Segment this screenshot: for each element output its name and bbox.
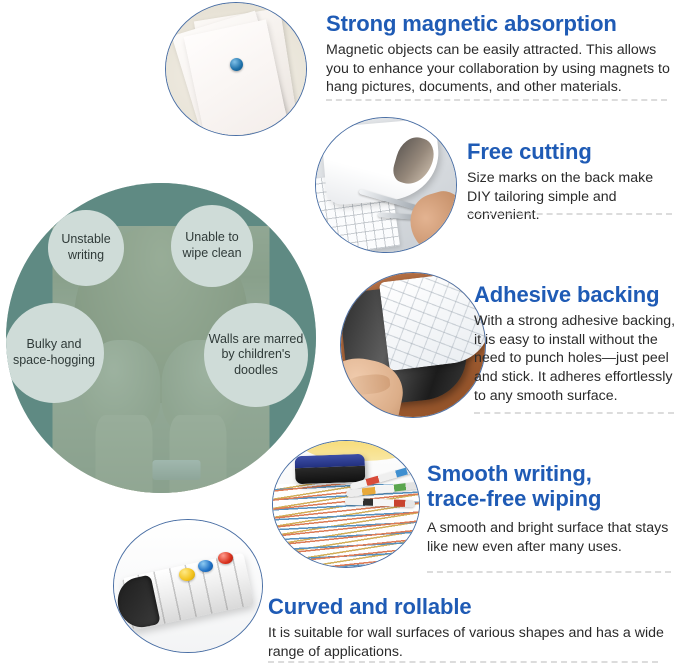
feature-body: Size marks on the back make DIY tailorin…	[467, 169, 675, 226]
feature-body: A smooth and bright surface that stays l…	[427, 519, 675, 557]
photo-free-cutting-image	[316, 118, 456, 252]
hand	[404, 187, 457, 253]
pain-bubble-unstable-writing: Unstable writing	[48, 210, 124, 286]
magnet-yellow	[179, 568, 195, 581]
white-grid-sheet	[379, 272, 486, 371]
pain-bubble-unable-to-wipe-clean: Unable to wipe clean	[171, 205, 253, 287]
pain-bubble-label: Walls are marred by children's doodles	[208, 332, 304, 379]
divider-4	[427, 571, 671, 573]
feature-heading-line1: Smooth writing,	[427, 461, 592, 486]
pain-bubble-label: Unable to wipe clean	[175, 230, 249, 261]
feature-curved-and-rollable: Curved and rollable It is suitable for w…	[268, 595, 668, 661]
feature-strong-magnetic-absorption: Strong magnetic absorption Magnetic obje…	[326, 12, 671, 97]
magnet-blue	[198, 560, 213, 572]
infographic-canvas: Strong magnetic absorption Magnetic obje…	[0, 0, 679, 669]
feature-body: It is suitable for wall surfaces of vari…	[268, 624, 668, 662]
divider-5	[268, 661, 658, 663]
feature-heading: Strong magnetic absorption	[326, 12, 671, 37]
feature-body: Magnetic objects can be easily attracted…	[326, 41, 671, 98]
feature-heading: Smooth writing, trace-free wiping	[427, 462, 675, 511]
feature-body: With a strong adhesive backing, it is ea…	[474, 312, 679, 406]
photo-strong-magnetic-absorption	[165, 2, 307, 136]
divider-2	[467, 213, 672, 215]
photo-magnetic-sheets-image	[166, 3, 306, 135]
marker-lines	[273, 484, 419, 567]
feature-heading-line2: trace-free wiping	[427, 486, 601, 511]
pain-bubble-walls-are-marred: Walls are marred by children's doodles	[204, 303, 308, 407]
magnet-red	[218, 552, 233, 564]
photo-free-cutting	[315, 117, 457, 253]
feature-smooth-writing: Smooth writing, trace-free wiping A smoo…	[427, 462, 675, 557]
feature-heading: Curved and rollable	[268, 595, 668, 620]
pain-bubble-label: Unstable writing	[52, 232, 120, 263]
photo-curved-rollable-image	[114, 520, 262, 652]
feature-heading: Adhesive backing	[474, 283, 679, 308]
photo-adhesive-backing-image	[341, 273, 485, 417]
pain-bubble-bulky-and-space-hogging: Bulky and space-hogging	[6, 303, 104, 403]
pain-points-circle: Unstable writing Unable to wipe clean Bu…	[6, 183, 316, 493]
divider-1	[326, 99, 667, 101]
divider-3	[474, 412, 674, 414]
feature-heading: Free cutting	[467, 140, 675, 165]
feature-adhesive-backing: Adhesive backing With a strong adhesive …	[474, 283, 679, 406]
photo-adhesive-backing	[340, 272, 486, 418]
pain-bubble-label: Bulky and space-hogging	[8, 337, 100, 368]
photo-curved-and-rollable	[113, 519, 263, 653]
